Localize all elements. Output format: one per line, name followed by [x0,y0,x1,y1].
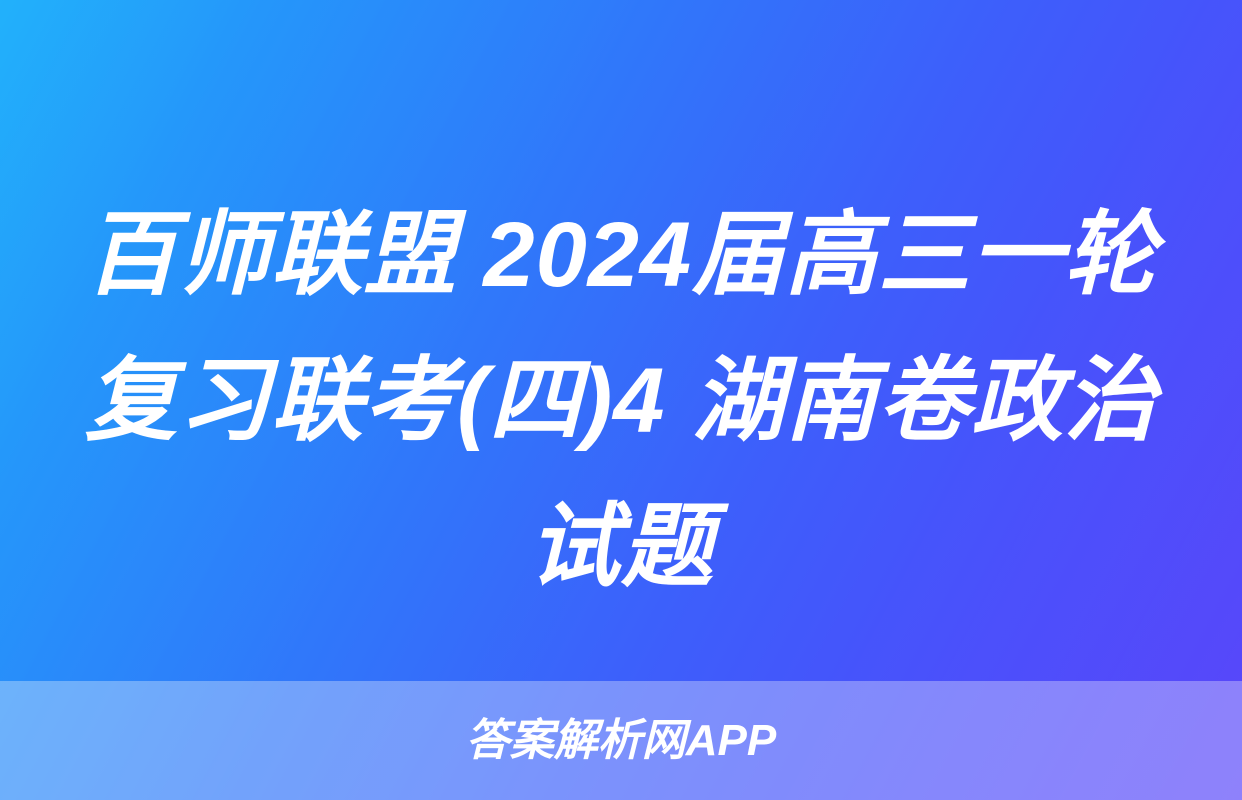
page-title: 百师联盟 2024届高三一轮复习联考(四)4 湖南卷政治试题 [70,182,1172,620]
footer-band: 答案解析网APP [0,681,1242,800]
app-watermark: 答案解析网APP [466,719,776,763]
exam-title-card: 百师联盟 2024届高三一轮复习联考(四)4 湖南卷政治试题 答案解析网APP [0,0,1242,800]
watermark-row: 答案解析网APP [0,681,1242,800]
title-block: 百师联盟 2024届高三一轮复习联考(四)4 湖南卷政治试题 [0,182,1242,620]
